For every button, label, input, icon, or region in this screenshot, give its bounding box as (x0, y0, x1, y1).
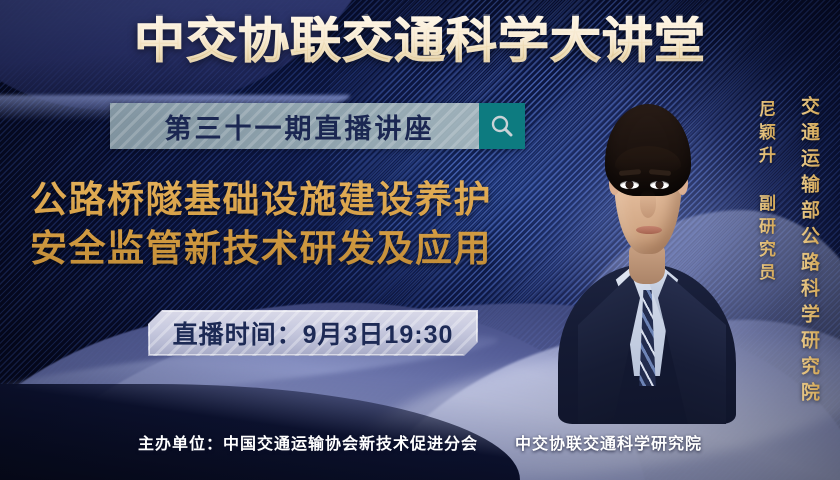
portrait-pupil-left (626, 182, 633, 189)
portrait-hair (605, 104, 691, 196)
episode-banner: 第三十一期直播讲座 (110, 103, 525, 149)
broadcast-time-badge: 直播时间：9月3日19:30 (148, 310, 478, 356)
lecture-topic-line-1: 公路桥隧基础设施建设养护 (30, 176, 578, 225)
search-icon[interactable] (479, 103, 525, 149)
lecture-topic-line-2: 安全监管新技术研发及应用 (30, 225, 578, 274)
footer-host-secondary: 中交协联交通科学研究院 (515, 436, 702, 453)
portrait-mouth (636, 226, 662, 234)
episode-label: 第三十一期直播讲座 (110, 107, 479, 146)
portrait-pupil-right (656, 182, 663, 189)
portrait-nose (640, 190, 656, 218)
footer-host-primary: 主办单位：中国交通运输协会新技术促进分会 (138, 436, 478, 453)
page-title: 中交协联交通科学大讲堂 (0, 16, 840, 67)
speaker-name-title: 尼颖升 副研究员 (753, 100, 778, 286)
speaker-organization: 交通运输部公路科学研究院 (795, 96, 822, 408)
live-broadcast-poster: 中交协联交通科学大讲堂 第三十一期直播讲座 公路桥隧基础设施建设养护 安全监管新… (0, 0, 840, 480)
speaker-portrait-photo (572, 78, 722, 408)
broadcast-time-text: 直播时间：9月3日19:30 (173, 315, 454, 351)
footer-hosts: 主办单位：中国交通运输协会新技术促进分会 中交协联交通科学研究院 (0, 430, 840, 454)
lecture-topic: 公路桥隧基础设施建设养护 安全监管新技术研发及应用 (30, 176, 578, 274)
